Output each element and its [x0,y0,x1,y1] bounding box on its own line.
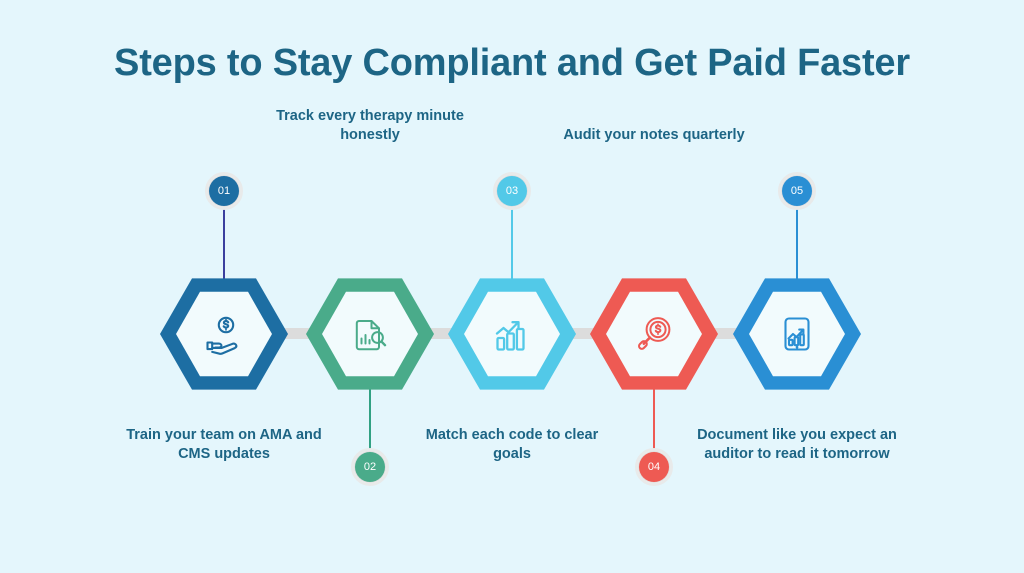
step-hexagon[interactable] [590,276,718,392]
step-number-label: 01 [209,176,239,206]
hand-holding-money-icon [201,311,247,357]
step-caption: Train your team on AMA and CMS updates [119,426,329,464]
step-caption: Track every therapy minute honestly [265,107,475,145]
step-number-label: 02 [355,452,385,482]
document-search-icon [347,311,393,357]
magnifier-dollar-icon [631,311,677,357]
step-number-label: 04 [639,452,669,482]
step-hexagon[interactable] [160,276,288,392]
step-number-badge[interactable]: 05 [778,172,816,210]
step-hexagon[interactable] [733,276,861,392]
step-number-badge[interactable]: 01 [205,172,243,210]
step-caption: Match each code to clear goals [407,426,617,464]
step-number-badge[interactable]: 03 [493,172,531,210]
step-caption: Document like you expect an auditor to r… [692,426,902,464]
infographic-canvas: Steps to Stay Compliant and Get Paid Fas… [0,0,1024,573]
step-number-label: 05 [782,176,812,206]
step-number-badge[interactable]: 02 [351,448,389,486]
step-caption: Audit your notes quarterly [549,126,759,145]
step-hexagon[interactable] [448,276,576,392]
step-number-badge[interactable]: 04 [635,448,673,486]
growth-bar-chart-icon [489,311,535,357]
step-number-label: 03 [497,176,527,206]
step-05[interactable]: 05 Document like you expect an auditor t… [697,0,897,573]
mobile-analytics-icon [774,311,820,357]
step-hexagon[interactable] [306,276,434,392]
